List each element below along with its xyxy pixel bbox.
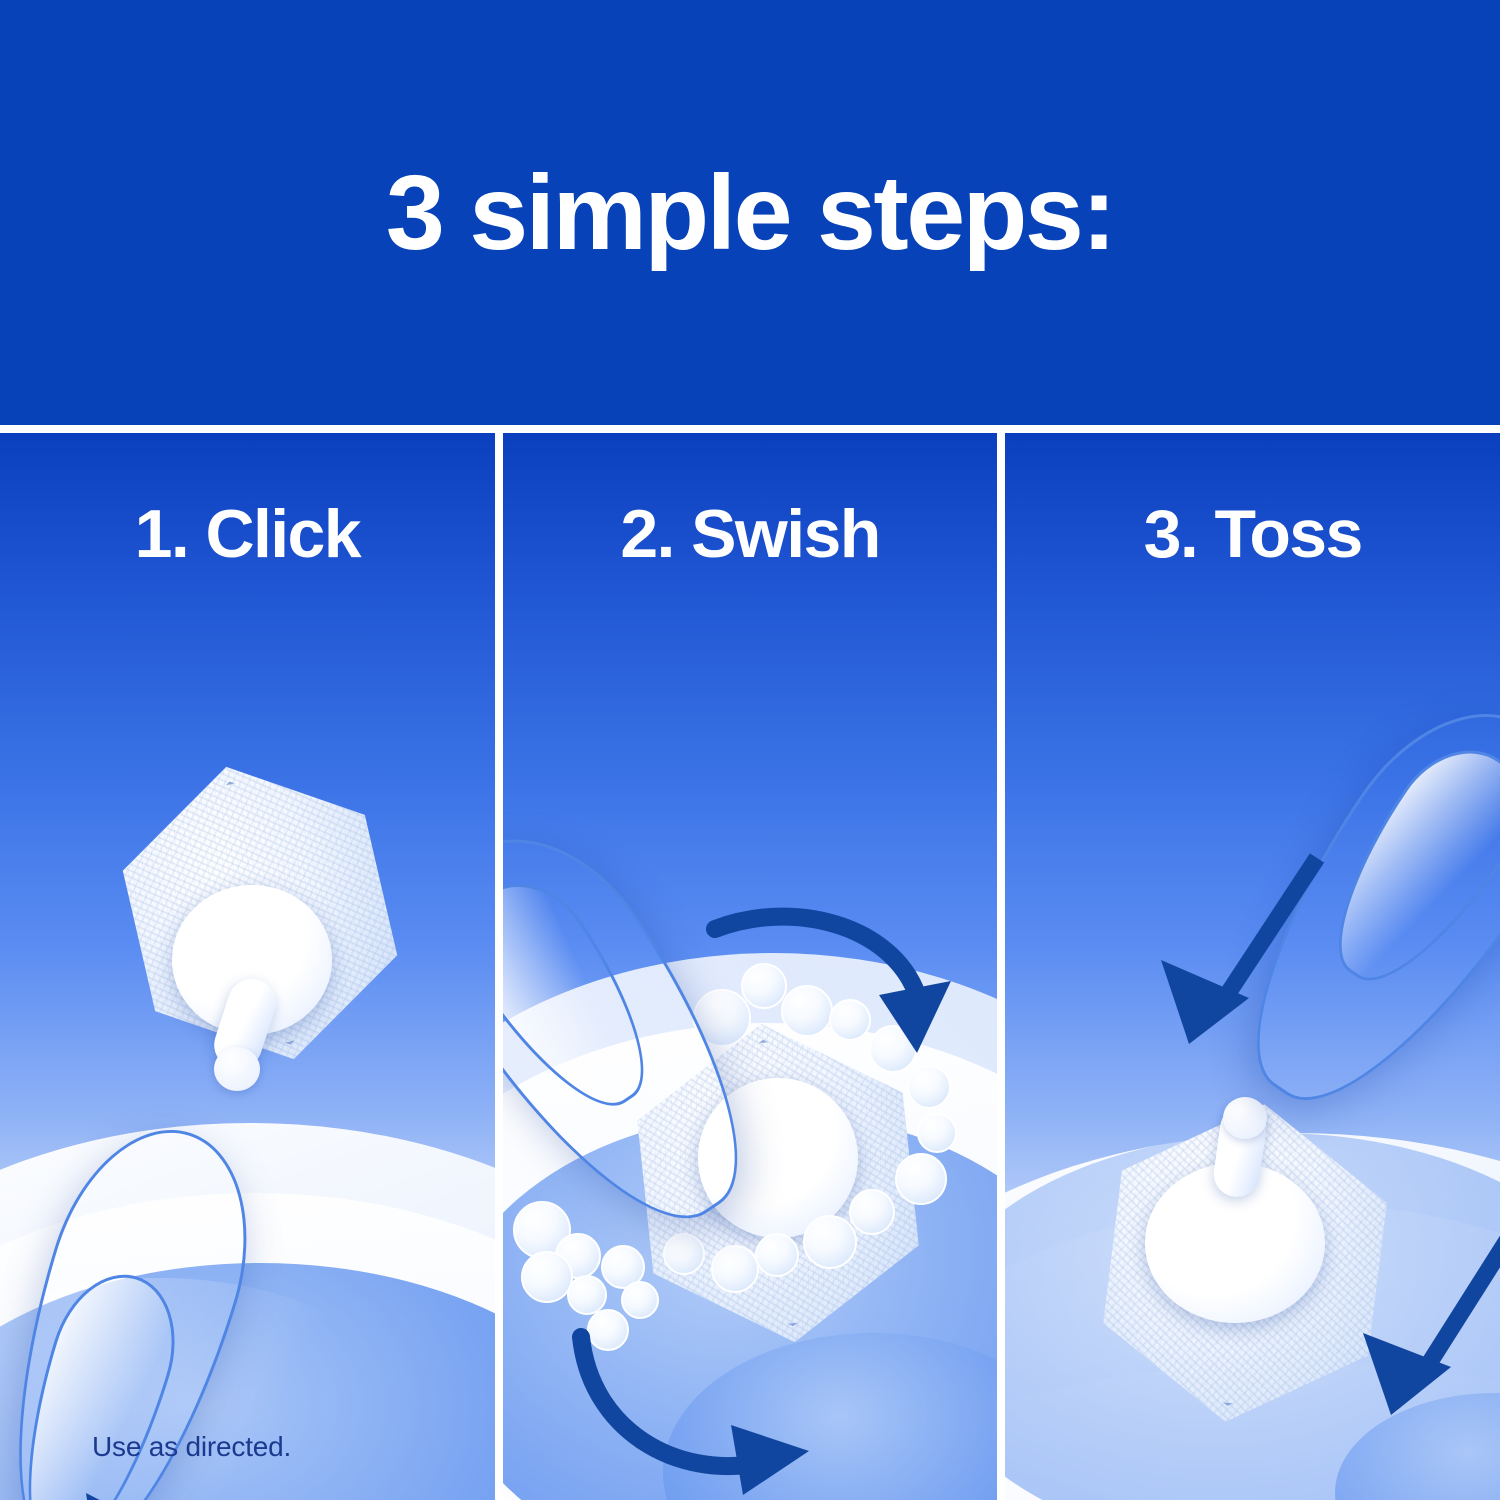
foam-bubble [521, 1251, 573, 1303]
foam-bubble [711, 1245, 759, 1293]
foam-bubble [849, 1189, 895, 1235]
step-title-click: 1. Click [0, 495, 495, 573]
steps-row: 1. Click [0, 433, 1500, 1500]
step-panel-toss: 3. Toss [1005, 433, 1500, 1500]
step-panel-click: 1. Click [0, 433, 495, 1500]
foam-bubble [663, 1233, 705, 1275]
panel-divider-2 [997, 433, 1005, 1500]
foam-bubble [803, 1215, 857, 1269]
tablet-post-tip [214, 1047, 260, 1091]
arrow-right-icon [0, 1473, 200, 1500]
arrow-down-left-icon [1335, 1223, 1500, 1473]
header-banner: 3 simple steps: [0, 0, 1500, 425]
foam-bubble [755, 1233, 799, 1277]
foam-bubble [917, 1113, 957, 1153]
step-panel-swish: 2. Swish [503, 433, 998, 1500]
step-title-swish: 2. Swish [503, 495, 998, 573]
page-title: 3 simple steps: [386, 160, 1114, 266]
foam-bubble [895, 1153, 947, 1205]
panel-divider-1 [495, 433, 503, 1500]
arrow-down-left-icon [1145, 848, 1365, 1098]
curved-arrow-clockwise-icon [703, 903, 973, 1103]
brush-head-inner-contour [503, 859, 679, 1133]
infographic-canvas: 3 simple steps: 1. Click [0, 0, 1500, 1500]
step-title-toss: 3. Toss [1005, 495, 1500, 573]
curved-arrow-counterclockwise-icon [573, 1313, 863, 1500]
disclaimer-text: Use as directed. [92, 1431, 291, 1463]
